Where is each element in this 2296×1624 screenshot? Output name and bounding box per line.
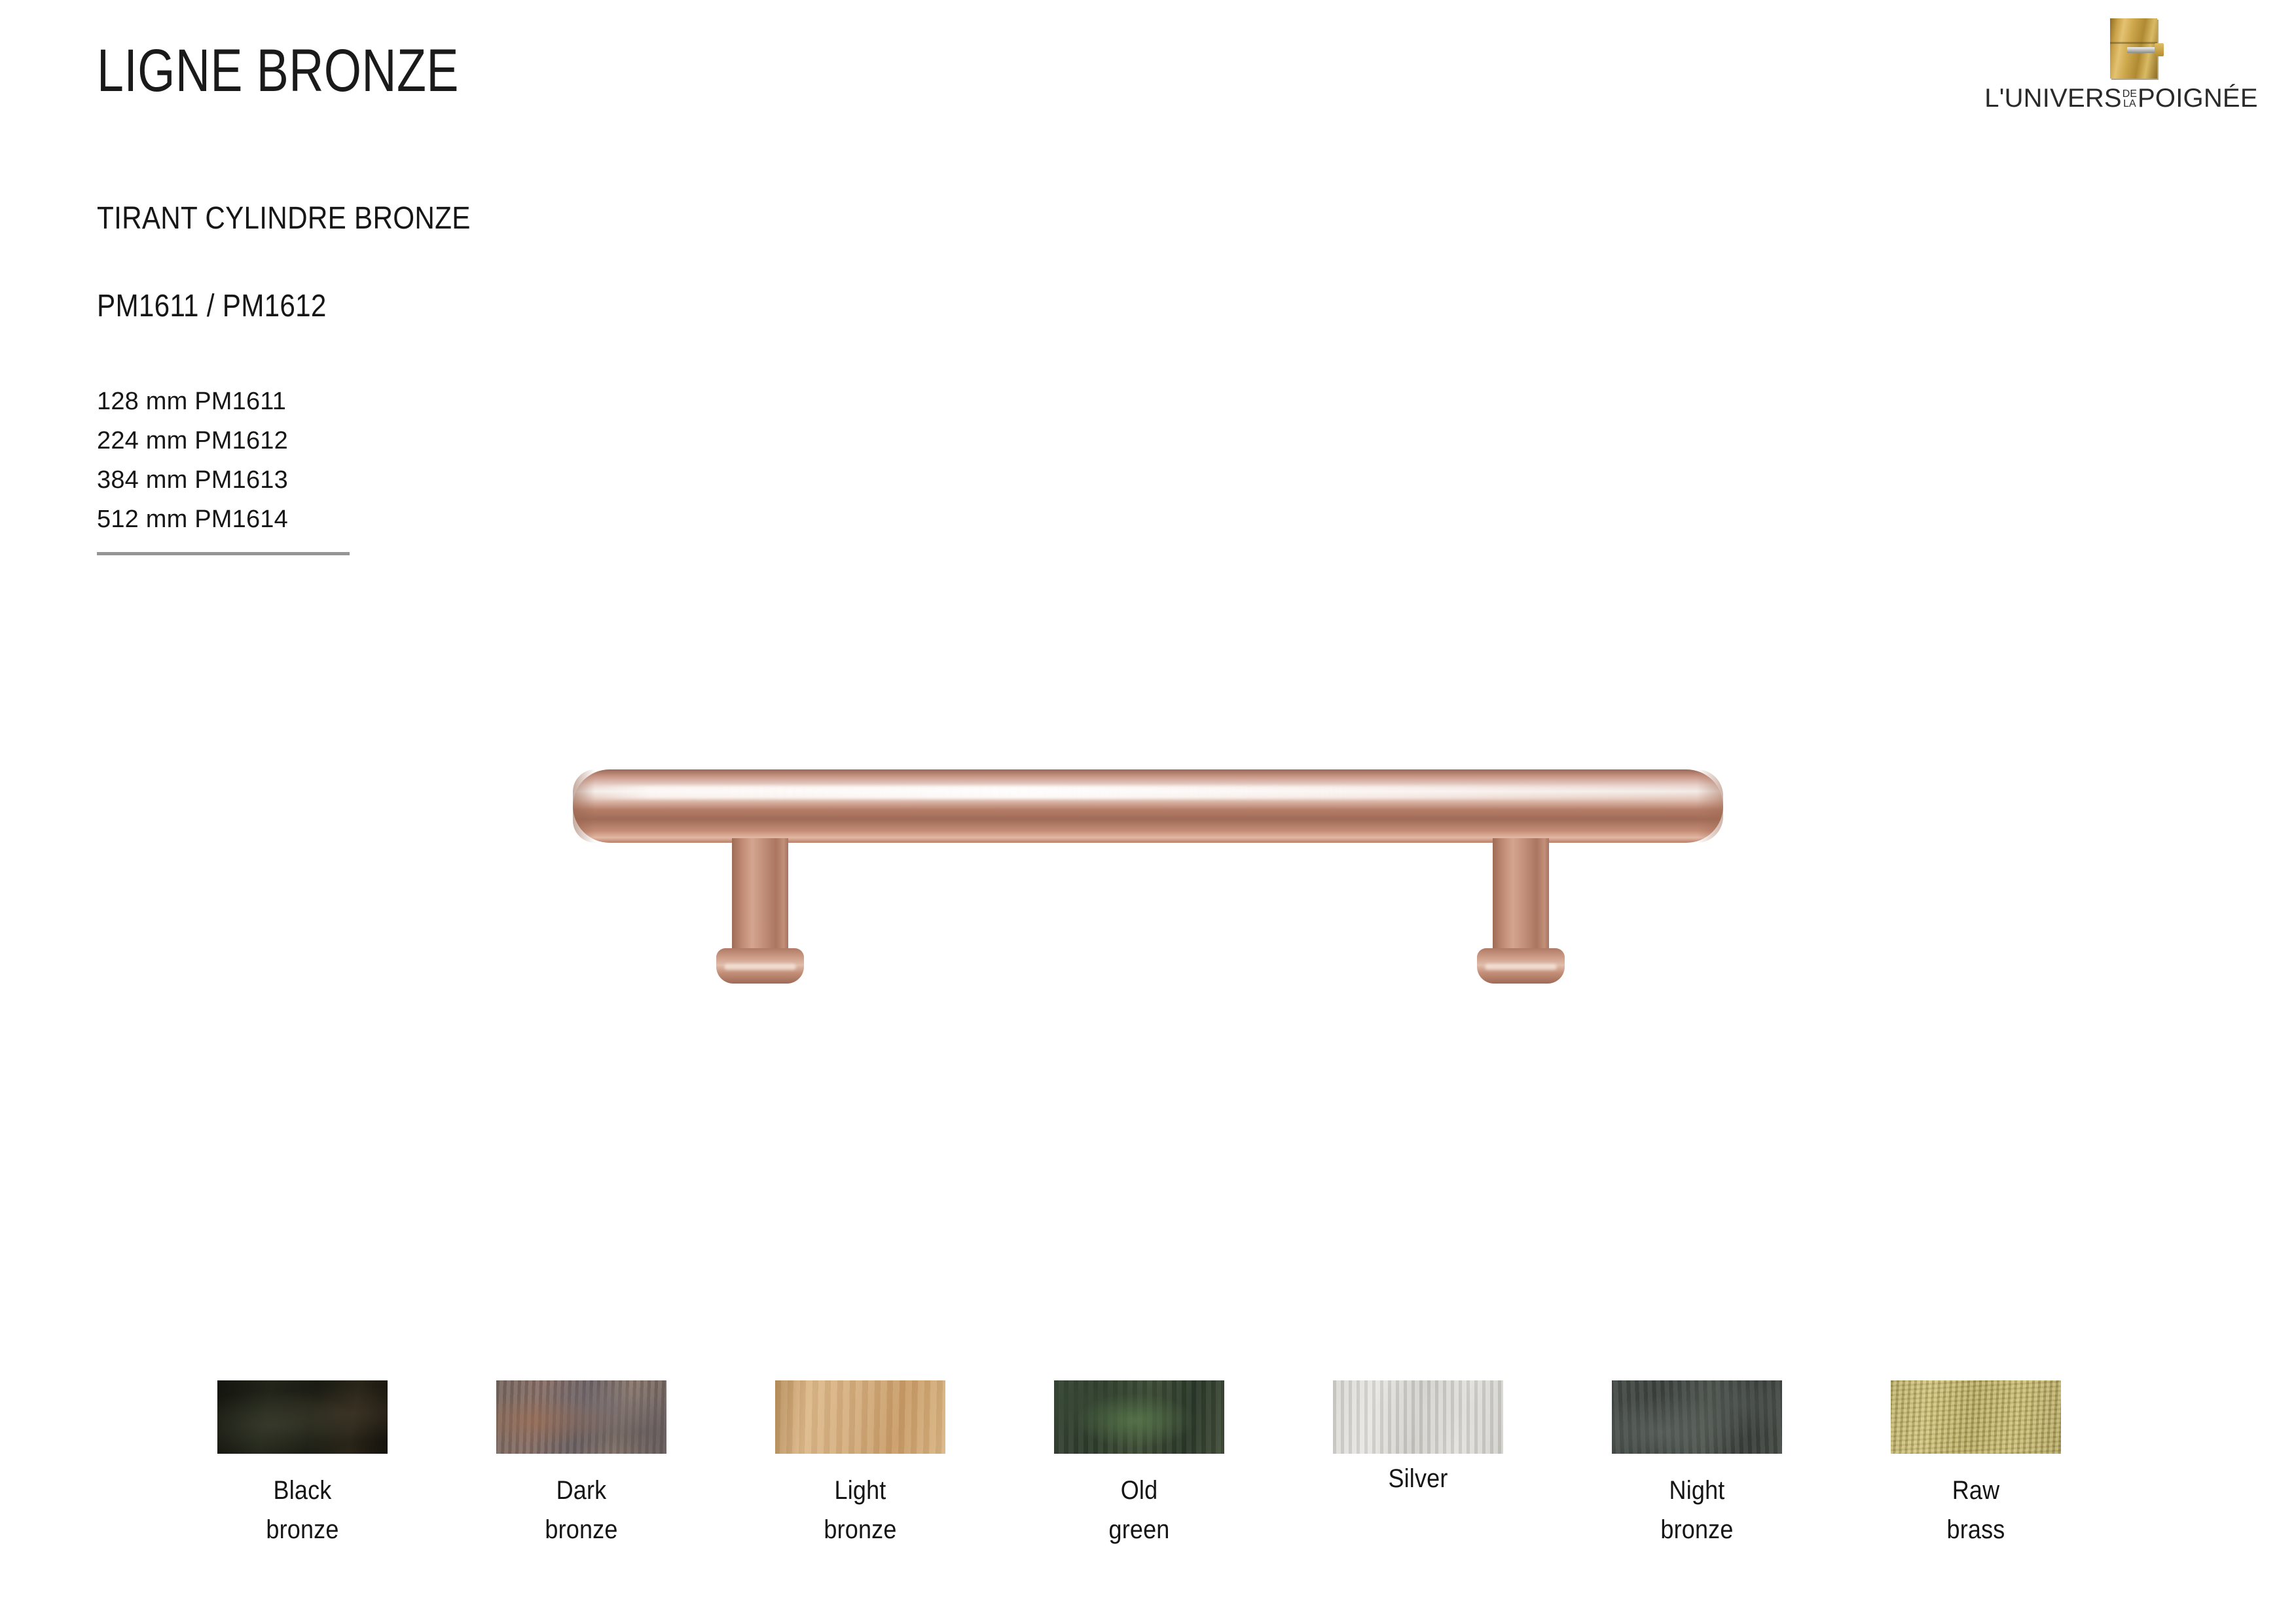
finish-swatch-label: Oldgreen bbox=[1063, 1471, 1216, 1549]
finish-label-line1: Light bbox=[784, 1471, 937, 1510]
handle-foot-right-highlight bbox=[1485, 964, 1557, 970]
finish-label-line2: green bbox=[1063, 1510, 1216, 1549]
product-photo bbox=[537, 733, 1768, 1008]
finish-swatch-item[interactable]: Rawbrass bbox=[1891, 1380, 2061, 1549]
finish-swatch-label: Blackbronze bbox=[226, 1471, 379, 1549]
brand-name-la: LA bbox=[2123, 99, 2137, 109]
finish-label-line1: Dark bbox=[505, 1471, 658, 1510]
finish-swatch-item[interactable]: Darkbronze bbox=[496, 1380, 666, 1549]
finish-swatch-item[interactable]: Lightbronze bbox=[775, 1380, 945, 1549]
brand-logo: L'UNIVERSDELAPOIGNÉE bbox=[1967, 18, 2275, 123]
brand-name-de: DE bbox=[2123, 89, 2137, 99]
section-divider bbox=[97, 552, 350, 555]
size-row: 128 mm PM1611 bbox=[97, 382, 288, 421]
finish-label-line2: bronze bbox=[1620, 1510, 1774, 1549]
handle-foot-left-highlight bbox=[724, 964, 796, 970]
finish-label-line1: Black bbox=[226, 1471, 379, 1510]
finish-label-line1: Old bbox=[1063, 1471, 1216, 1510]
finish-swatch-chip[interactable] bbox=[775, 1380, 945, 1454]
logo-plate-groove bbox=[2110, 42, 2157, 44]
finish-label-line2: bronze bbox=[784, 1510, 937, 1549]
finish-label-line1: Raw bbox=[1899, 1471, 2052, 1510]
finish-swatch-label: Nightbronze bbox=[1620, 1471, 1774, 1549]
finish-label-line2: bronze bbox=[505, 1510, 658, 1549]
finish-label-line2: brass bbox=[1899, 1510, 2052, 1549]
brand-name-secondary: POIGNÉE bbox=[2138, 84, 2258, 113]
brand-name-primary: L'UNIVERS bbox=[1984, 84, 2122, 113]
finish-swatch-item[interactable]: Silver bbox=[1333, 1380, 1503, 1498]
handle-post-left bbox=[732, 838, 788, 956]
finish-swatch-chip[interactable] bbox=[1054, 1380, 1224, 1454]
finish-label-line1: Night bbox=[1620, 1471, 1774, 1510]
finish-swatch-label: Darkbronze bbox=[505, 1471, 658, 1549]
logo-lever-shape bbox=[2127, 47, 2157, 53]
brand-name-de-la: DELA bbox=[2123, 89, 2137, 109]
page-title: LIGNE BRONZE bbox=[97, 41, 459, 101]
finish-swatch-row: BlackbronzeDarkbronzeLightbronzeOldgreen… bbox=[217, 1380, 2083, 1577]
finish-swatch-chip[interactable] bbox=[217, 1380, 388, 1454]
finish-swatch-label: Rawbrass bbox=[1899, 1471, 2052, 1549]
product-name: TIRANT CYLINDRE BRONZE bbox=[97, 200, 471, 236]
finish-swatch-label: Lightbronze bbox=[784, 1471, 937, 1549]
size-row: 224 mm PM1612 bbox=[97, 421, 288, 460]
door-plate-handle-icon bbox=[2110, 18, 2161, 79]
size-list: 128 mm PM1611 224 mm PM1612 384 mm PM161… bbox=[97, 382, 288, 539]
finish-swatch-chip[interactable] bbox=[1333, 1380, 1503, 1454]
finish-swatch-chip[interactable] bbox=[1612, 1380, 1782, 1454]
size-row: 512 mm PM1614 bbox=[97, 500, 288, 539]
finish-swatch-item[interactable]: Nightbronze bbox=[1612, 1380, 1782, 1549]
finish-swatch-item[interactable]: Oldgreen bbox=[1054, 1380, 1224, 1549]
logo-spindle-shape bbox=[2155, 43, 2164, 56]
handle-bar-shape bbox=[573, 769, 1723, 843]
finish-swatch-label: Silver bbox=[1341, 1459, 1495, 1498]
catalog-page: LIGNE BRONZE L'UNIVERSDELAPOIGNÉE TIRANT… bbox=[0, 0, 2296, 1624]
product-references: PM1611 / PM1612 bbox=[97, 288, 327, 324]
brand-name: L'UNIVERSDELAPOIGNÉE bbox=[1967, 84, 2275, 113]
finish-label-line2: bronze bbox=[226, 1510, 379, 1549]
finish-swatch-chip[interactable] bbox=[496, 1380, 666, 1454]
finish-label-line1: Silver bbox=[1341, 1459, 1495, 1498]
finish-swatch-chip[interactable] bbox=[1891, 1380, 2061, 1454]
finish-swatch-item[interactable]: Blackbronze bbox=[217, 1380, 388, 1549]
handle-post-right bbox=[1493, 838, 1549, 956]
size-row: 384 mm PM1613 bbox=[97, 460, 288, 500]
